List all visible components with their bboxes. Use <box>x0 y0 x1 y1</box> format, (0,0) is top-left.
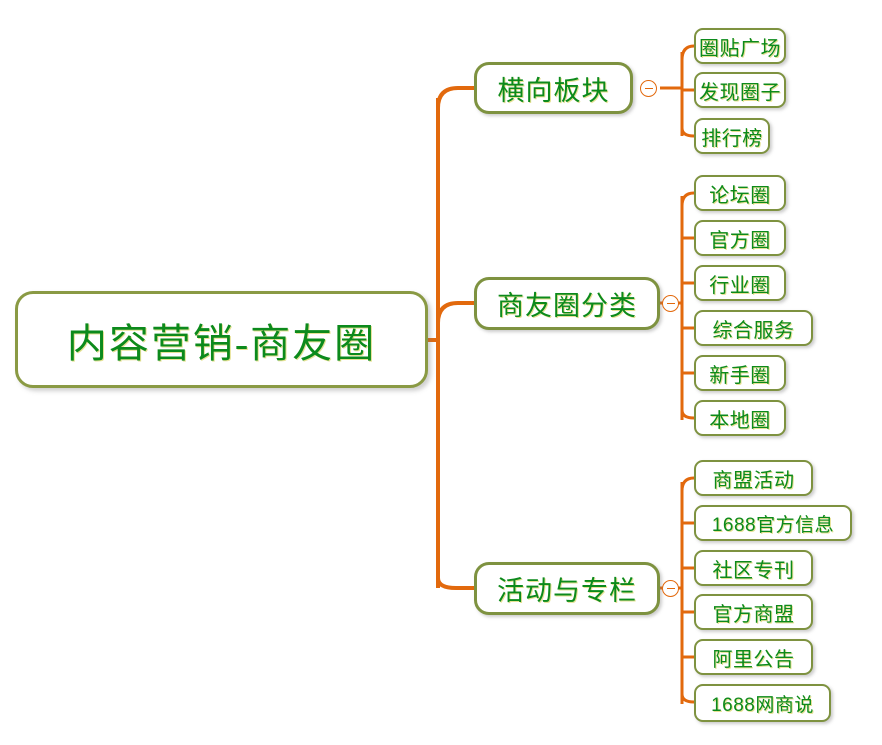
leaf-node-label: 1688网商说 <box>711 690 814 717</box>
leaf-node-b1-3[interactable]: 排行榜 <box>694 118 770 154</box>
connector-branch-3-leaf-6 <box>682 694 694 702</box>
leaf-node-label: 社区专刊 <box>713 554 795 583</box>
connector-main-branch-2 <box>438 303 474 323</box>
leaf-node-label: 行业圈 <box>709 269 771 298</box>
connector-branch-2-leaf-1 <box>682 193 694 206</box>
leaf-node-label: 圈贴广场 <box>699 32 781 61</box>
leaf-node-label: 商盟活动 <box>713 464 795 493</box>
leaf-node-label: 论坛圈 <box>709 179 771 208</box>
leaf-node-b2-6[interactable]: 本地圈 <box>694 400 786 436</box>
root-node-label: 内容营销-商友圈 <box>67 311 376 369</box>
leaf-node-b3-2[interactable]: 1688官方信息 <box>694 505 852 541</box>
collapse-minus-icon-branch-1[interactable] <box>640 80 657 97</box>
branch-node-horizontal-sections[interactable]: 横向板块 <box>474 62 633 114</box>
leaf-node-b1-1[interactable]: 圈贴广场 <box>694 28 786 64</box>
connector-main-branch-3 <box>438 578 474 588</box>
collapse-minus-icon-branch-3[interactable] <box>662 580 679 597</box>
leaf-node-b3-6[interactable]: 1688网商说 <box>694 684 831 722</box>
leaf-node-label: 本地圈 <box>709 404 771 433</box>
leaf-node-b2-4[interactable]: 综合服务 <box>694 310 813 346</box>
leaf-node-b3-5[interactable]: 阿里公告 <box>694 639 813 675</box>
connector-main-branch-1 <box>438 88 474 108</box>
leaf-node-b1-2[interactable]: 发现圈子 <box>694 72 786 108</box>
leaf-node-label: 官方商盟 <box>713 598 795 627</box>
branch-node-merchant-circle-categories[interactable]: 商友圈分类 <box>474 277 660 330</box>
leaf-node-b2-2[interactable]: 官方圈 <box>694 220 786 256</box>
connector-branch-1-leaf-3 <box>682 128 694 136</box>
leaf-node-label: 发现圈子 <box>699 76 781 105</box>
leaf-node-label: 官方圈 <box>709 224 771 253</box>
leaf-node-label: 排行榜 <box>701 122 763 151</box>
connector-branch-3-leaf-1 <box>682 478 694 491</box>
branch-node-label: 活动与专栏 <box>497 569 637 608</box>
connector-branch-2-leaf-6 <box>682 410 694 418</box>
collapse-minus-icon-branch-2[interactable] <box>662 295 679 312</box>
leaf-node-label: 新手圈 <box>709 359 771 388</box>
branch-node-label: 商友圈分类 <box>497 284 637 323</box>
leaf-node-label: 综合服务 <box>713 314 795 343</box>
connector-branch-1-leaf-1 <box>682 46 694 60</box>
leaf-node-label: 1688官方信息 <box>712 510 834 537</box>
leaf-node-b3-4[interactable]: 官方商盟 <box>694 594 813 630</box>
leaf-node-b2-5[interactable]: 新手圈 <box>694 355 786 391</box>
leaf-node-b2-1[interactable]: 论坛圈 <box>694 175 786 211</box>
mindmap-canvas: 内容营销-商友圈 横向板块 圈贴广场 发现圈子 排行榜 商友圈分类 论坛圈 官方… <box>0 0 882 745</box>
branch-node-label: 横向板块 <box>498 69 610 108</box>
leaf-node-b3-1[interactable]: 商盟活动 <box>694 460 813 496</box>
leaf-node-label: 阿里公告 <box>713 643 795 672</box>
leaf-node-b3-3[interactable]: 社区专刊 <box>694 550 813 586</box>
leaf-node-b2-3[interactable]: 行业圈 <box>694 265 786 301</box>
root-node[interactable]: 内容营销-商友圈 <box>15 291 428 388</box>
branch-node-activities-and-columns[interactable]: 活动与专栏 <box>474 562 660 615</box>
